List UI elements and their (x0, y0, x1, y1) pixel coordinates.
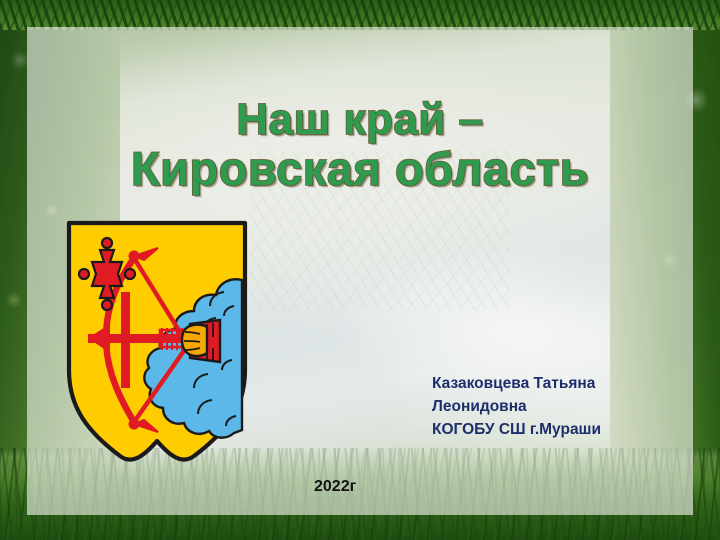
author-line-3: КОГОБУ СШ г.Мураши (432, 419, 694, 442)
page-title: Наш край – Кировская область (0, 96, 720, 194)
year-label: 2022г (314, 478, 356, 496)
coat-of-arms-kirov-oblast (66, 220, 248, 470)
author-block: Казаковцева Татьяна Леонидовна КОГОБУ СШ… (432, 373, 694, 442)
author-line-2: Леонидовна (432, 396, 694, 419)
title-line-2: Кировская область (0, 144, 720, 195)
canopy-top-decoration (0, 0, 720, 30)
slide-canvas: Наш край – Кировская область (0, 0, 720, 540)
author-line-1: Казаковцева Татьяна (432, 373, 694, 396)
title-line-1: Наш край – (0, 96, 720, 144)
